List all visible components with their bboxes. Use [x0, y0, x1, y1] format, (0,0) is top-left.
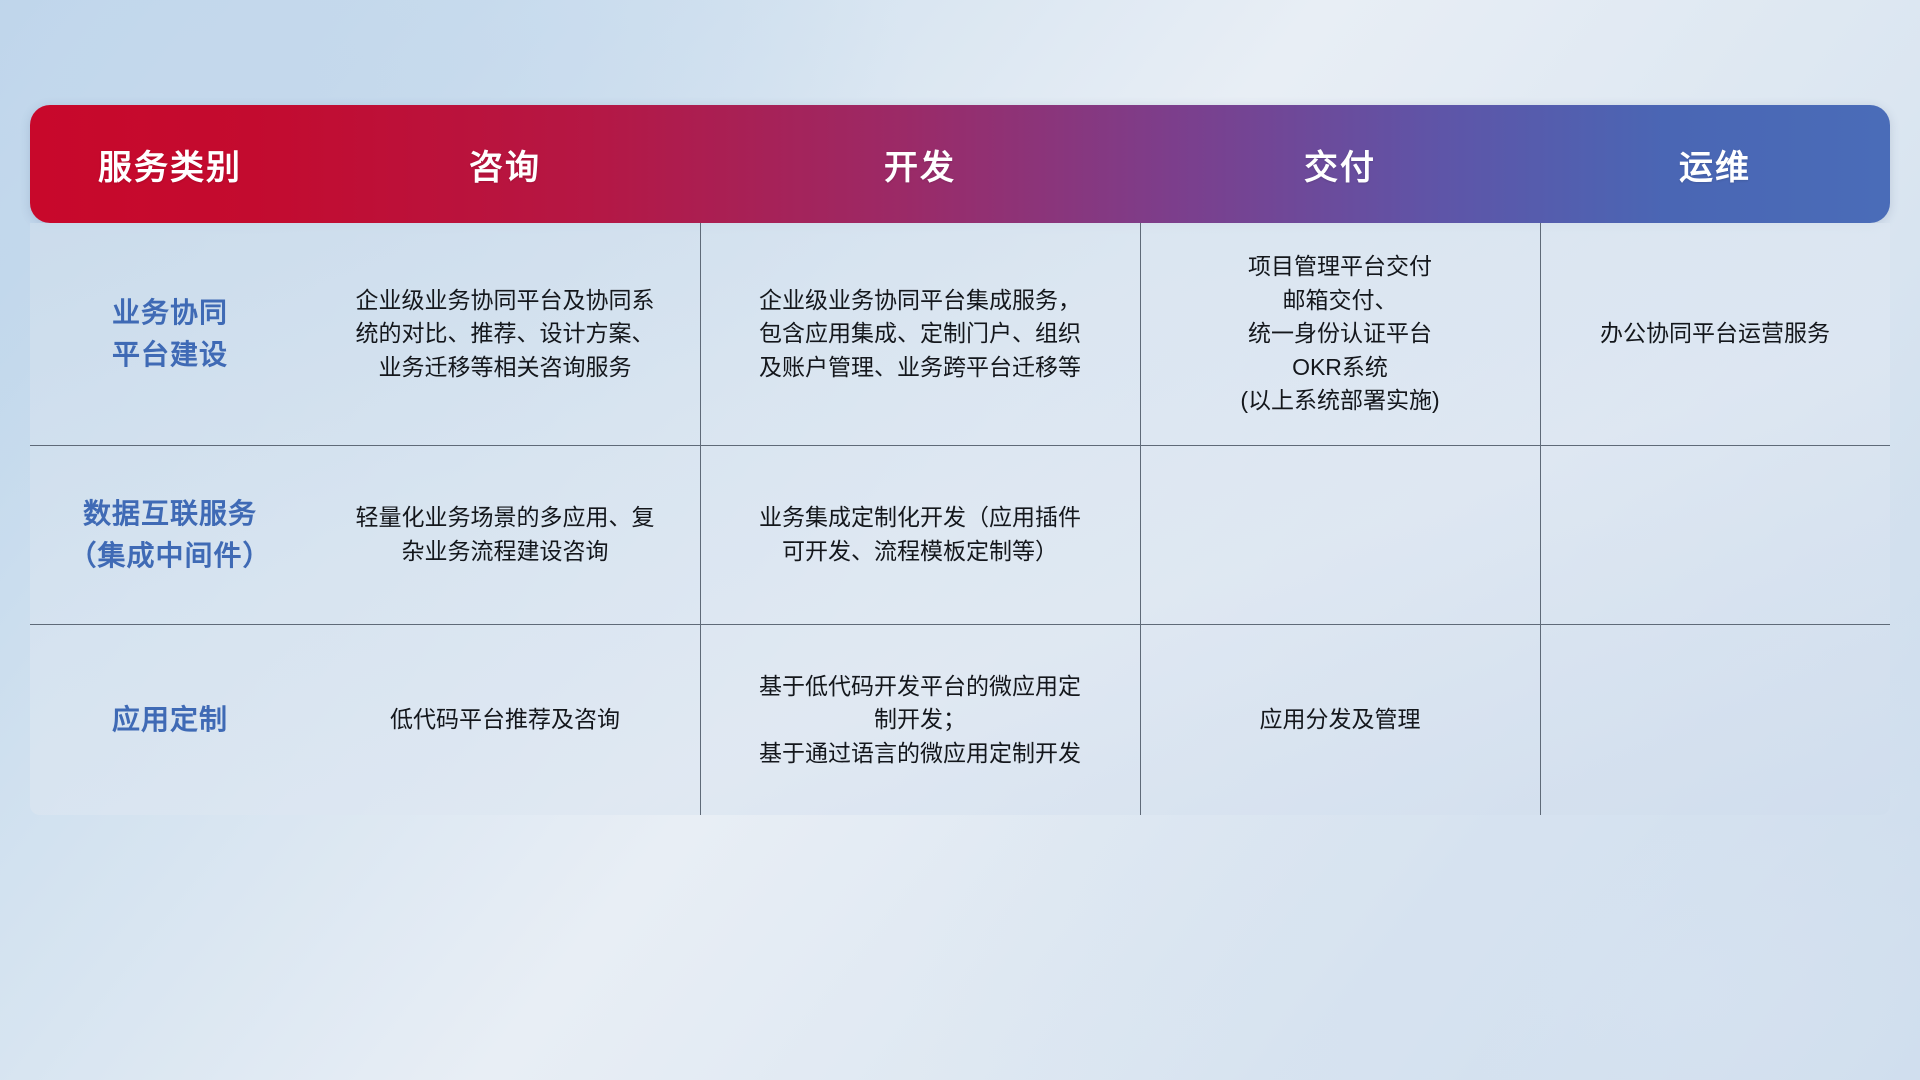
cell-development: 基于低代码开发平台的微应用定 制开发； 基于通过语言的微应用定制开发 — [700, 625, 1140, 815]
cell-development: 企业级业务协同平台集成服务， 包含应用集成、定制门户、组织 及账户管理、业务跨平… — [700, 223, 1140, 445]
cell-operations — [1540, 446, 1890, 624]
table-body: 业务协同 平台建设 企业级业务协同平台及协同系 统的对比、推荐、设计方案、 业务… — [30, 223, 1890, 815]
cell-delivery — [1140, 446, 1540, 624]
column-header-consulting: 咨询 — [310, 105, 700, 223]
cell-operations: 办公协同平台运营服务 — [1540, 223, 1890, 445]
column-header-operations: 运维 — [1540, 105, 1890, 223]
cell-consulting: 企业级业务协同平台及协同系 统的对比、推荐、设计方案、 业务迁移等相关咨询服务 — [310, 223, 700, 445]
cell-operations — [1540, 625, 1890, 815]
column-header-development: 开发 — [700, 105, 1140, 223]
cell-delivery: 项目管理平台交付 邮箱交付、 统一身份认证平台 OKR系统 (以上系统部署实施) — [1140, 223, 1540, 445]
column-header-service-category: 服务类别 — [30, 105, 310, 223]
row-category-label: 应用定制 — [30, 625, 310, 815]
table-row: 业务协同 平台建设 企业级业务协同平台及协同系 统的对比、推荐、设计方案、 业务… — [30, 223, 1890, 445]
cell-consulting: 轻量化业务场景的多应用、复 杂业务流程建设咨询 — [310, 446, 700, 624]
column-header-delivery: 交付 — [1140, 105, 1540, 223]
row-category-label: 数据互联服务 （集成中间件） — [30, 446, 310, 624]
row-category-label: 业务协同 平台建设 — [30, 223, 310, 445]
table-row: 应用定制 低代码平台推荐及咨询 基于低代码开发平台的微应用定 制开发； 基于通过… — [30, 624, 1890, 815]
cell-consulting: 低代码平台推荐及咨询 — [310, 625, 700, 815]
service-category-table: 服务类别 咨询 开发 交付 运维 业务协同 平台建设 企业级业务协同平台及协同系… — [30, 105, 1890, 795]
cell-development: 业务集成定制化开发（应用插件 可开发、流程模板定制等） — [700, 446, 1140, 624]
table-row: 数据互联服务 （集成中间件） 轻量化业务场景的多应用、复 杂业务流程建设咨询 业… — [30, 445, 1890, 624]
cell-delivery: 应用分发及管理 — [1140, 625, 1540, 815]
table-header-row: 服务类别 咨询 开发 交付 运维 — [30, 105, 1890, 223]
